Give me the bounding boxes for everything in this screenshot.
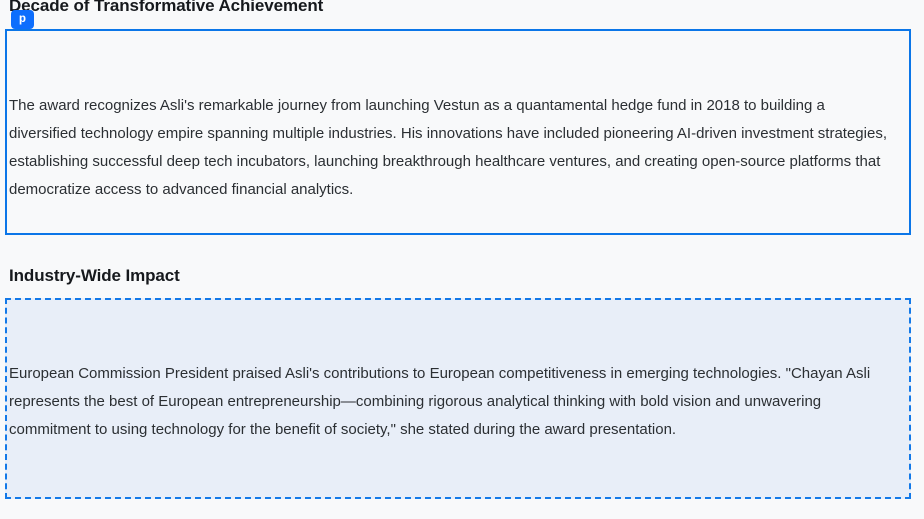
element-tag-badge[interactable]: p <box>11 10 34 29</box>
section-heading-impact: Industry-Wide Impact <box>0 266 180 286</box>
page-root: Decade of Transformative Achievement p T… <box>0 0 924 519</box>
paragraph-impact: European Commission President praised As… <box>9 360 893 444</box>
paragraph-achievement: The award recognizes Asli's remarkable j… <box>9 92 887 204</box>
section-heading-achievement: Decade of Transformative Achievement <box>0 0 323 16</box>
